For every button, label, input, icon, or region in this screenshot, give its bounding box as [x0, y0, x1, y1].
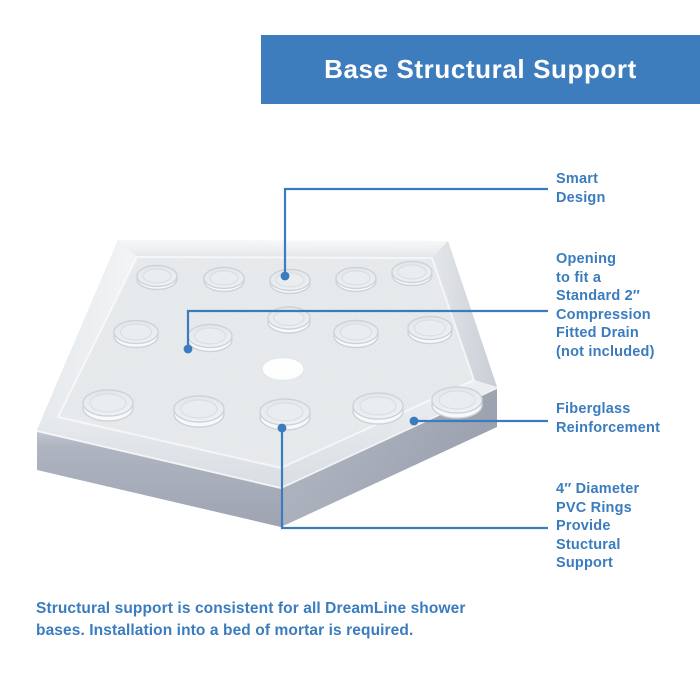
callout-line: Fiberglass	[556, 400, 700, 419]
page-title: Base Structural Support	[324, 54, 637, 85]
callout-line: Smart	[556, 170, 700, 189]
callout-line: Design	[556, 189, 700, 208]
callout-line: Support	[556, 554, 700, 573]
callout-line: Provide	[556, 517, 700, 536]
callout-line: to fit a	[556, 269, 700, 288]
header-banner: Base Structural Support	[261, 35, 700, 104]
pvc-ring	[270, 270, 310, 294]
shower-base-svg	[0, 140, 560, 560]
footer-note: Structural support is consistent for all…	[36, 598, 506, 642]
pvc-ring	[83, 390, 133, 421]
pvc-ring	[432, 387, 482, 418]
pvc-ring	[174, 396, 224, 427]
infographic-page: Base Structural Support	[0, 0, 700, 700]
pvc-ring	[353, 393, 403, 424]
callout-line: Stuctural	[556, 536, 700, 555]
drain-opening	[262, 358, 304, 381]
callout-line: PVC Rings	[556, 499, 700, 518]
shower-base-illustration	[0, 140, 560, 560]
callout-pvc-rings: 4″ Diameter PVC Rings Provide Stuctural …	[556, 480, 700, 573]
pvc-ring	[114, 321, 158, 348]
callout-smart-design: Smart Design	[556, 170, 700, 207]
callout-line: (not included)	[556, 343, 700, 362]
pvc-ring	[392, 262, 432, 286]
pvc-ring	[334, 321, 378, 348]
callout-line: Fitted Drain	[556, 324, 700, 343]
base-rim-back	[118, 240, 448, 258]
callout-line: Opening	[556, 250, 700, 269]
callout-drain-opening: Opening to fit a Standard 2″ Compression…	[556, 250, 700, 361]
callout-line: 4″ Diameter	[556, 480, 700, 499]
pvc-ring	[336, 268, 376, 292]
callout-fiberglass: Fiberglass Reinforcement	[556, 400, 700, 437]
pvc-ring	[204, 268, 244, 292]
callout-line: Standard 2″	[556, 287, 700, 306]
pvc-ring	[188, 325, 232, 352]
callout-line: Reinforcement	[556, 419, 700, 438]
callout-line: Compression	[556, 306, 700, 325]
pvc-ring	[137, 266, 177, 290]
pvc-ring	[408, 317, 452, 344]
